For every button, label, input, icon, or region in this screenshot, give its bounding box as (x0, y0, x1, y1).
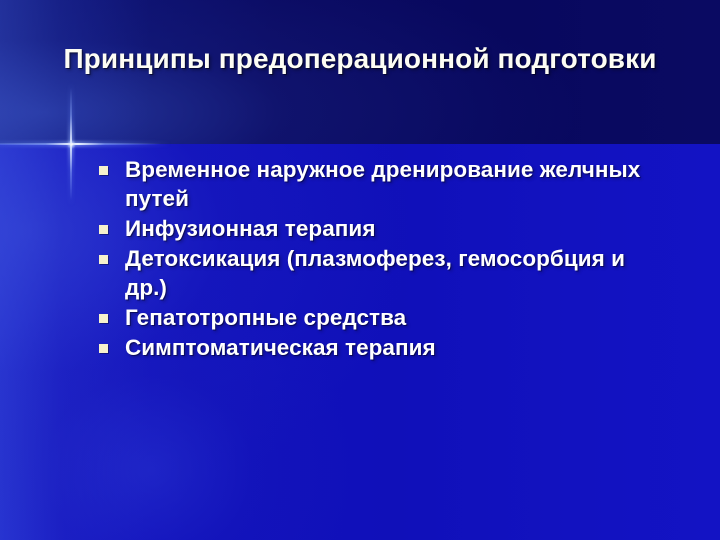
list-item-label: Инфузионная терапия (125, 214, 673, 243)
list-item: Детоксикация (плазмоферез, гемосорбция и… (98, 244, 673, 302)
slide-title: Принципы предоперационной подготовки (60, 42, 660, 75)
list-item-label: Гепатотропные средства (125, 303, 673, 332)
list-item: Инфузионная терапия (98, 214, 673, 243)
list-item-label: Симптоматическая терапия (125, 333, 673, 362)
list-item: Симптоматическая терапия (98, 333, 673, 362)
list-item: Гепатотропные средства (98, 303, 673, 332)
list-item-label: Временное наружное дренирование желчных … (125, 155, 673, 213)
list-item: Временное наружное дренирование желчных … (98, 155, 673, 213)
presentation-slide: Принципы предоперационной подготовки Вре… (0, 0, 720, 540)
slide-bullet-list: Временное наружное дренирование желчных … (98, 155, 673, 363)
square-bullet-icon (99, 314, 108, 323)
square-bullet-icon (99, 255, 108, 264)
list-item-label: Детоксикация (плазмоферез, гемосорбция и… (125, 244, 673, 302)
square-bullet-icon (99, 225, 108, 234)
square-bullet-icon (99, 344, 108, 353)
square-bullet-icon (99, 166, 108, 175)
